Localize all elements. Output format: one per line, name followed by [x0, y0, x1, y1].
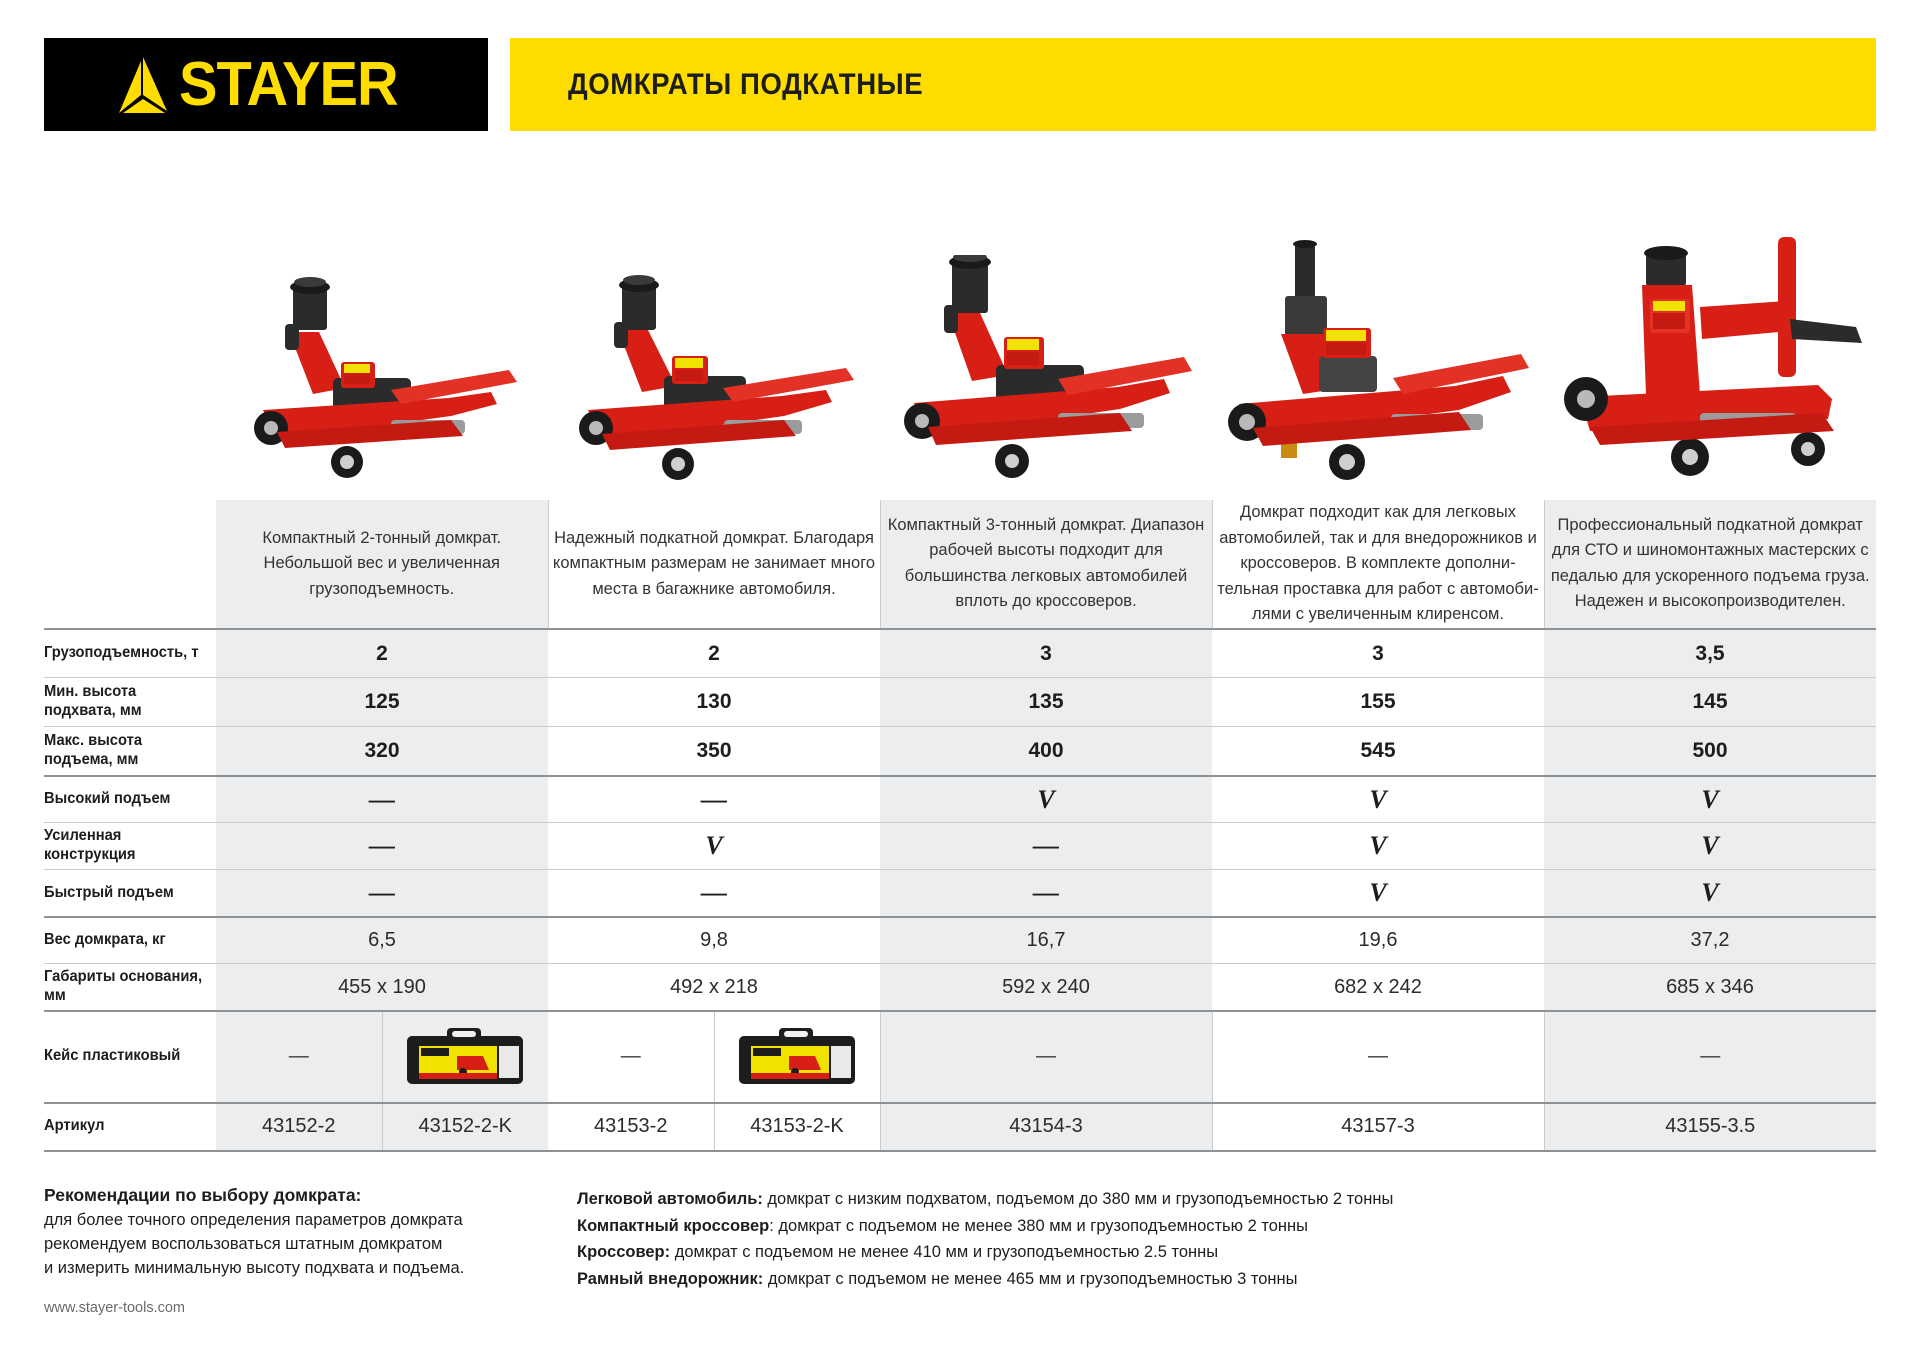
row-label-max-height: Макс. высота подъема, мм [44, 727, 207, 776]
guidance-row-2: Компактный кроссовер: домкрат с подъемом… [577, 1213, 1876, 1240]
cell-base-dim-5: 685 x 346 [1544, 964, 1876, 1011]
cell-weight-5: 37,2 [1544, 917, 1876, 964]
cell-case-5: — [1544, 1011, 1876, 1103]
row-label-min-height-line1: Мин. высота [44, 683, 207, 702]
floor-jack-illustration [568, 270, 858, 485]
guidance-term-4: Рамный внедорожник: [577, 1270, 763, 1288]
row-plastic-case: Кейс пластиковый — — [44, 1011, 1876, 1103]
website-url[interactable]: www.stayer-tools.com [44, 1300, 185, 1316]
guidance-term-3: Кроссовер: [577, 1243, 670, 1261]
cell-fast-lift-4: V [1212, 870, 1544, 917]
row-capacity: Грузоподъемность, т 2 2 3 3 3,5 [44, 629, 1876, 678]
cell-base-dim-4: 682 x 242 [1212, 964, 1544, 1011]
stayer-triangle-logo-icon [117, 55, 169, 115]
cell-capacity-1: 2 [216, 629, 548, 678]
cell-capacity-2: 2 [548, 629, 880, 678]
cell-fast-lift-3: — [880, 870, 1212, 917]
product-photo-1 [215, 150, 547, 495]
cell-min-height-1: 125 [216, 678, 548, 727]
page-footer: Рекомендации по выбору домкрата: для бол… [44, 1185, 1876, 1335]
cell-base-dim-2: 492 x 218 [548, 964, 880, 1011]
cell-article-1-kit: 43152-2-K [382, 1103, 548, 1151]
cell-capacity-3: 3 [880, 629, 1212, 678]
cell-max-height-5: 500 [1544, 727, 1876, 776]
cell-max-height-2: 350 [548, 727, 880, 776]
cell-high-lift-4: V [1212, 776, 1544, 823]
row-label-article: Артикул [44, 1103, 207, 1151]
cell-case-1-base: — [216, 1011, 382, 1103]
row-fast-lift: Быстрый подъем — — — V V [44, 870, 1876, 917]
row-label-weight: Вес домкрата, кг [44, 917, 207, 964]
floor-jack-illustration [1223, 240, 1533, 485]
cell-high-lift-5: V [1544, 776, 1876, 823]
product-photo-4 [1212, 150, 1544, 495]
guidance-text-4: домкрат с подъемом не менее 465 мм и гру… [763, 1270, 1297, 1288]
cell-case-2-base: — [548, 1011, 714, 1103]
row-label-max-height-line2: подъема, мм [44, 751, 207, 770]
cell-weight-4: 19,6 [1212, 917, 1544, 964]
row-label-base-dimensions: Габариты основания, мм [44, 964, 207, 1011]
cell-article-1-base: 43152-2 [216, 1103, 382, 1151]
guidance-term-2: Компактный кроссовер [577, 1217, 769, 1235]
row-label-plastic-case: Кейс пластиковый [44, 1011, 207, 1103]
row-article: Артикул 43152-2 43152-2-K 43153-2 43153-… [44, 1103, 1876, 1151]
row-label-reinforced: Усиленная конструкция [44, 823, 207, 870]
cell-base-dim-3: 592 x 240 [880, 964, 1212, 1011]
cell-reinforced-5: V [1544, 823, 1876, 870]
row-label-fast-lift: Быстрый подъем [44, 870, 207, 917]
product-1-description: Компактный 2-тонный домкрат. Небольшой в… [216, 500, 548, 629]
product-3-description: Компактный 3-тонный домкрат. Диапазон ра… [880, 500, 1212, 629]
cell-weight-1: 6,5 [216, 917, 548, 964]
specifications-table: Компактный 2-тонный домкрат. Небольшой в… [44, 500, 1876, 1152]
recommendations-block: Рекомендации по выбору домкрата: для бол… [44, 1185, 524, 1281]
row-min-height: Мин. высота подхвата, мм 125 130 135 155… [44, 678, 1876, 727]
product-photo-strip [215, 150, 1876, 495]
cell-case-3: — [880, 1011, 1212, 1103]
recommendations-title: Рекомендации по выбору домкрата: [44, 1185, 524, 1206]
product-5-description: Профессиональный подкатной домкрат для С… [1544, 500, 1876, 629]
cell-min-height-5: 145 [1544, 678, 1876, 727]
guidance-row-4: Рамный внедорожник: домкрат с подъемом н… [577, 1266, 1876, 1293]
page-title: ДОМКРАТЫ ПОДКАТНЫЕ [568, 68, 923, 102]
page-header: STAYER ДОМКРАТЫ ПОДКАТНЫЕ [44, 38, 1876, 131]
cell-case-4: — [1212, 1011, 1544, 1103]
cell-min-height-2: 130 [548, 678, 880, 727]
guidance-text-2: : домкрат с подъемом не менее 380 мм и г… [769, 1217, 1308, 1235]
cell-high-lift-2: — [548, 776, 880, 823]
row-high-lift: Высокий подъем — — V V V [44, 776, 1876, 823]
row-reinforced: Усиленная конструкция — V — V V [44, 823, 1876, 870]
cell-article-3: 43154-3 [880, 1103, 1212, 1151]
guidance-term-1: Легковой автомобиль: [577, 1190, 763, 1208]
row-label-max-height-line1: Макс. высота [44, 732, 207, 751]
recommendations-line-2: рекомендуем воспользоваться штатным домк… [44, 1233, 524, 1257]
row-label-high-lift: Высокий подъем [44, 776, 207, 823]
cell-article-2-base: 43153-2 [548, 1103, 714, 1151]
cell-reinforced-2: V [548, 823, 880, 870]
cell-weight-3: 16,7 [880, 917, 1212, 964]
row-max-height: Макс. высота подъема, мм 320 350 400 545… [44, 727, 1876, 776]
plastic-case-icon [737, 1026, 857, 1088]
recommendations-line-1: для более точного определения параметров… [44, 1209, 524, 1233]
product-photo-5 [1544, 150, 1876, 495]
cell-high-lift-3: V [880, 776, 1212, 823]
cell-weight-2: 9,8 [548, 917, 880, 964]
floor-jack-illustration [896, 255, 1196, 485]
cell-reinforced-4: V [1212, 823, 1544, 870]
product-4-description: Домкрат подходит как для легковых автомо… [1212, 500, 1544, 629]
guidance-row-3: Кроссовер: домкрат с подъемом не менее 4… [577, 1239, 1876, 1266]
recommendations-line-3: и измерить минимальную высоту подхвата и… [44, 1257, 524, 1281]
cell-max-height-1: 320 [216, 727, 548, 776]
cell-base-dim-1: 455 x 190 [216, 964, 548, 1011]
cell-fast-lift-2: — [548, 870, 880, 917]
row-label-min-height-line2: подхвата, мм [44, 702, 207, 721]
guidance-text-3: домкрат с подъемом не менее 410 мм и гру… [670, 1243, 1218, 1261]
floor-jack-illustration [241, 270, 521, 485]
floor-jack-illustration [1550, 235, 1870, 485]
guidance-row-1: Легковой автомобиль: домкрат с низким по… [577, 1186, 1876, 1213]
row-label-min-height: Мин. высота подхвата, мм [44, 678, 207, 727]
cell-article-2-kit: 43153-2-K [714, 1103, 880, 1151]
row-base-dimensions: Габариты основания, мм 455 x 190 492 x 2… [44, 964, 1876, 1011]
cell-max-height-3: 400 [880, 727, 1212, 776]
vehicle-guidance-list: Легковой автомобиль: домкрат с низким по… [577, 1186, 1876, 1293]
cell-high-lift-1: — [216, 776, 548, 823]
guidance-text-1: домкрат с низким подхватом, подъемом до … [763, 1190, 1394, 1208]
plastic-case-icon [405, 1026, 525, 1088]
header-title-bar: ДОМКРАТЫ ПОДКАТНЫЕ [510, 38, 1876, 131]
cell-capacity-4: 3 [1212, 629, 1544, 678]
cell-fast-lift-1: — [216, 870, 548, 917]
cell-min-height-4: 155 [1212, 678, 1544, 727]
row-label-capacity: Грузоподъемность, т [44, 629, 207, 678]
row-label-empty [44, 500, 207, 629]
product-comparison-sheet: STAYER ДОМКРАТЫ ПОДКАТНЫЕ [0, 0, 1920, 1357]
cell-min-height-3: 135 [880, 678, 1212, 727]
product-photo-2 [547, 150, 879, 495]
row-weight: Вес домкрата, кг 6,5 9,8 16,7 19,6 37,2 [44, 917, 1876, 964]
cell-reinforced-3: — [880, 823, 1212, 870]
brand-wordmark: STAYER [179, 54, 398, 116]
cell-case-1-kit [382, 1011, 548, 1103]
cell-case-2-kit [714, 1011, 880, 1103]
cell-article-4: 43157-3 [1212, 1103, 1544, 1151]
cell-max-height-4: 545 [1212, 727, 1544, 776]
product-photo-3 [879, 150, 1211, 495]
cell-reinforced-1: — [216, 823, 548, 870]
cell-fast-lift-5: V [1544, 870, 1876, 917]
description-row: Компактный 2-тонный домкрат. Небольшой в… [44, 500, 1876, 629]
cell-capacity-5: 3,5 [1544, 629, 1876, 678]
product-2-description: Надежный подкатной домкрат. Благодаря ко… [548, 500, 880, 629]
stayer-logo: STAYER [44, 38, 488, 131]
cell-article-5: 43155-3.5 [1544, 1103, 1876, 1151]
